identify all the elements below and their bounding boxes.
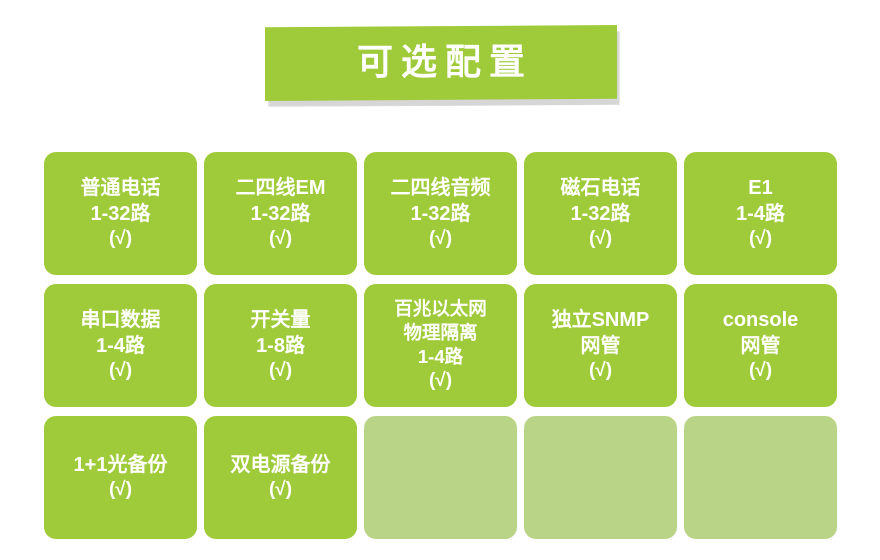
option-card-line: 1+1光备份 xyxy=(74,452,168,478)
option-card[interactable]: 串口数据1-4路(√) xyxy=(44,284,197,407)
check-mark-icon: (√) xyxy=(589,359,612,384)
option-card-line: 二四线EM xyxy=(236,175,326,201)
option-card-line: console xyxy=(723,307,799,333)
option-card-line: 1-4路 xyxy=(96,333,145,359)
option-card-line: 磁石电话 xyxy=(561,175,641,201)
option-card-line: 1-32路 xyxy=(90,201,150,227)
check-mark-icon: (√) xyxy=(109,227,132,252)
title-banner: 可选配置 xyxy=(265,25,617,105)
option-card-line: 1-4路 xyxy=(418,345,463,369)
option-card-line: 1-32路 xyxy=(410,201,470,227)
option-card[interactable]: 百兆以太网物理隔离1-4路(√) xyxy=(364,284,517,407)
check-mark-icon: (√) xyxy=(269,359,292,384)
check-mark-icon: (√) xyxy=(109,478,132,503)
option-card-line: 网管 xyxy=(581,333,621,359)
option-card-line: 开关量 xyxy=(251,307,311,333)
option-card-placeholder xyxy=(684,416,837,539)
check-mark-icon: (√) xyxy=(749,359,772,384)
check-mark-icon: (√) xyxy=(429,369,452,394)
option-card-placeholder xyxy=(524,416,677,539)
page-title: 可选配置 xyxy=(349,44,533,82)
option-card-line: 物理隔离 xyxy=(403,321,477,345)
option-card-line: 1-4路 xyxy=(736,201,785,227)
check-mark-icon: (√) xyxy=(269,227,292,252)
option-card-line: 网管 xyxy=(741,333,781,359)
option-card-line: 串口数据 xyxy=(81,307,161,333)
option-card[interactable]: 二四线音频1-32路(√) xyxy=(364,152,517,275)
option-card[interactable]: 独立SNMP网管(√) xyxy=(524,284,677,407)
option-card[interactable]: E11-4路(√) xyxy=(684,152,837,275)
option-card-placeholder xyxy=(364,416,517,539)
option-card[interactable]: 1+1光备份(√) xyxy=(44,416,197,539)
option-card-line: E1 xyxy=(748,175,772,201)
option-card[interactable]: console网管(√) xyxy=(684,284,837,407)
check-mark-icon: (√) xyxy=(749,227,772,252)
option-card-line: 1-32路 xyxy=(570,201,630,227)
check-mark-icon: (√) xyxy=(109,359,132,384)
option-card[interactable]: 双电源备份(√) xyxy=(204,416,357,539)
option-card[interactable]: 磁石电话1-32路(√) xyxy=(524,152,677,275)
option-card-line: 双电源备份 xyxy=(231,452,331,478)
page-root: 可选配置 普通电话1-32路(√)二四线EM1-32路(√)二四线音频1-32路… xyxy=(0,0,880,560)
option-card-line: 1-32路 xyxy=(250,201,310,227)
check-mark-icon: (√) xyxy=(429,227,452,252)
option-card-line: 普通电话 xyxy=(81,175,161,201)
check-mark-icon: (√) xyxy=(589,227,612,252)
option-card-line: 二四线音频 xyxy=(391,175,491,201)
option-card-line: 1-8路 xyxy=(256,333,305,359)
check-mark-icon: (√) xyxy=(269,478,292,503)
option-card-line: 独立SNMP xyxy=(552,307,650,333)
option-card[interactable]: 普通电话1-32路(√) xyxy=(44,152,197,275)
option-card[interactable]: 开关量1-8路(√) xyxy=(204,284,357,407)
title-banner-body: 可选配置 xyxy=(265,25,617,101)
option-card-grid: 普通电话1-32路(√)二四线EM1-32路(√)二四线音频1-32路(√)磁石… xyxy=(44,152,838,539)
option-card-line: 百兆以太网 xyxy=(394,297,487,321)
option-card[interactable]: 二四线EM1-32路(√) xyxy=(204,152,357,275)
